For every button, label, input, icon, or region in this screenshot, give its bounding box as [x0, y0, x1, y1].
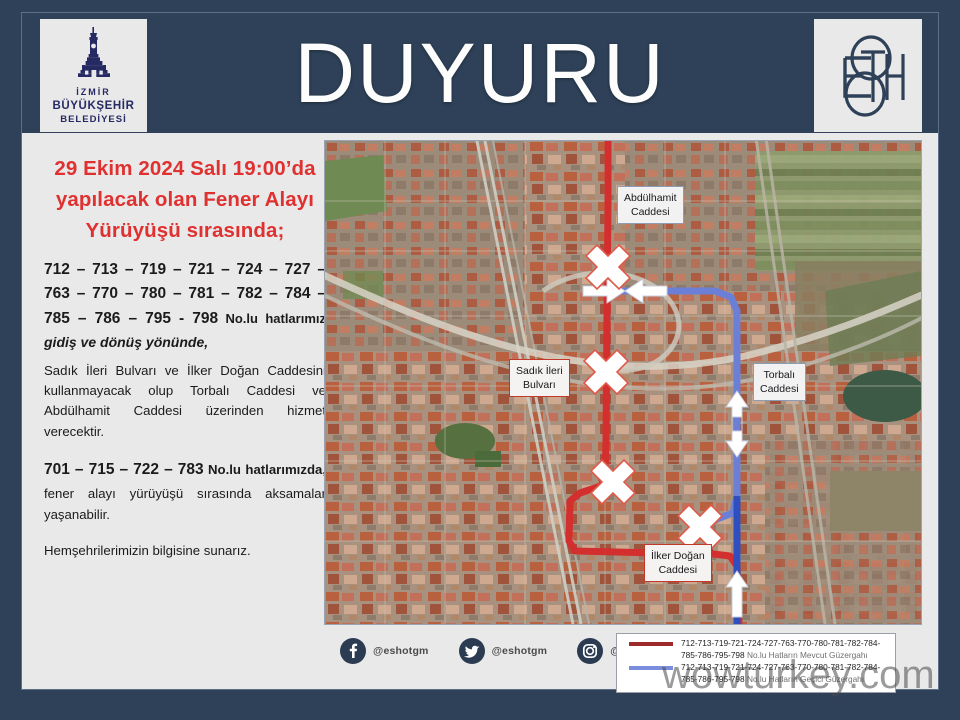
label-line-1: Torbalı: [764, 369, 796, 381]
facebook-icon[interactable]: [340, 638, 366, 664]
twitter-icon[interactable]: [459, 638, 485, 664]
map-label-torbali-caddesi: Torbalı Caddesi: [753, 363, 806, 401]
notice-text-column: 29 Ekim 2024 Salı 19:00’da yapılacak ola…: [44, 153, 326, 562]
label-line-1: Sadık İleri: [516, 365, 563, 377]
road-closed-x-icon: [591, 460, 635, 504]
label-line-2: Bulvarı: [523, 379, 556, 391]
label-line-2: Caddesi: [760, 383, 799, 395]
instagram-icon[interactable]: [577, 638, 603, 664]
affected-lines-block: 712 – 713 – 719 – 721 – 724 – 727 – 763 …: [44, 258, 326, 354]
legend-temporary-label: No.lu Hatların Geçici Güzergahı: [745, 674, 864, 684]
izmir-logo-text: İZMİR BÜYÜKŞEHİR BELEDİYESİ: [52, 87, 134, 127]
delayed-lines-text: fener alayı yürüyüşü sırasında aksamalar…: [44, 486, 326, 522]
map-legend: 712-713-719-721-724-727-763-770-780-781-…: [616, 633, 896, 693]
legend-current-label: No.lu Hatların Mevcut Güzergahı: [745, 650, 868, 660]
label-line-1: İlker Doğan: [651, 550, 705, 562]
logo-line-1: İZMİR: [52, 87, 134, 99]
legend-swatch-current: [629, 642, 673, 646]
notice-paragraph-3: Hemşehrilerimizin bilgisine sunarız.: [44, 541, 326, 561]
map-label-sadik-ileri-bulvari: Sadık İleri Bulvarı: [509, 359, 570, 397]
eshot-monogram-icon: [825, 30, 911, 122]
affected-lines-suffix: No.lu hatlarımız: [218, 311, 326, 326]
poster-header: DUYURU: [22, 13, 938, 133]
label-line-1: Abdülhamit: [624, 192, 677, 204]
eshot-logo: [814, 19, 922, 132]
logo-line-3: BELEDİYESİ: [52, 114, 134, 127]
direction-arrow-icon: [726, 571, 748, 617]
social-facebook[interactable]: @eshotgm: [340, 638, 429, 664]
logo-line-2: BÜYÜKŞEHİR: [52, 99, 134, 114]
legend-swatch-temporary: [629, 666, 673, 670]
legend-text-current: 712-713-719-721-724-727-763-770-780-781-…: [681, 637, 891, 661]
legend-text-temporary: 712-713-719-721-724-727-763-770-780-781-…: [681, 661, 891, 685]
label-line-2: Caddesi: [631, 206, 670, 218]
legend-row-current: 712-713-719-721-724-727-763-770-780-781-…: [621, 637, 891, 661]
road-closed-x-icon: [678, 505, 722, 549]
facebook-handle: @eshotgm: [373, 645, 429, 657]
delayed-lines-numbers: 701 – 715 – 722 – 783: [44, 461, 204, 478]
label-line-2: Caddesi: [659, 564, 698, 576]
poster-page: DUYURU: [22, 13, 938, 689]
map-label-ilker-dogan-caddesi: İlker Doğan Caddesi: [644, 544, 712, 582]
twitter-handle: @eshotgm: [492, 645, 548, 657]
clock-tower-icon: [64, 25, 124, 87]
map-label-abdulhamit-caddesi: Abdülhamit Caddesi: [617, 186, 684, 224]
route-map[interactable]: Abdülhamit Caddesi Sadık İleri Bulvarı T…: [324, 140, 922, 625]
notice-paragraph-2: 701 – 715 – 722 – 783 No.lu hatlarımızda…: [44, 458, 326, 525]
social-twitter[interactable]: @eshotgm: [459, 638, 548, 664]
affected-lines-direction: gidiş ve dönüş yönünde,: [44, 334, 208, 350]
izmir-buyuksehir-belediyesi-logo: İZMİR BÜYÜKŞEHİR BELEDİYESİ: [40, 19, 147, 132]
delayed-lines-suffix: No.lu hatlarımızda,: [204, 462, 326, 477]
legend-row-temporary: 712-713-719-721-724-727-763-770-780-781-…: [621, 661, 891, 685]
poster-frame: DUYURU: [0, 0, 960, 720]
page-title: DUYURU: [22, 13, 938, 133]
notice-headline: 29 Ekim 2024 Salı 19:00’da yapılacak ola…: [44, 153, 326, 246]
notice-paragraph-1: Sadık İleri Bulvarı ve İlker Doğan Cadde…: [44, 361, 326, 443]
